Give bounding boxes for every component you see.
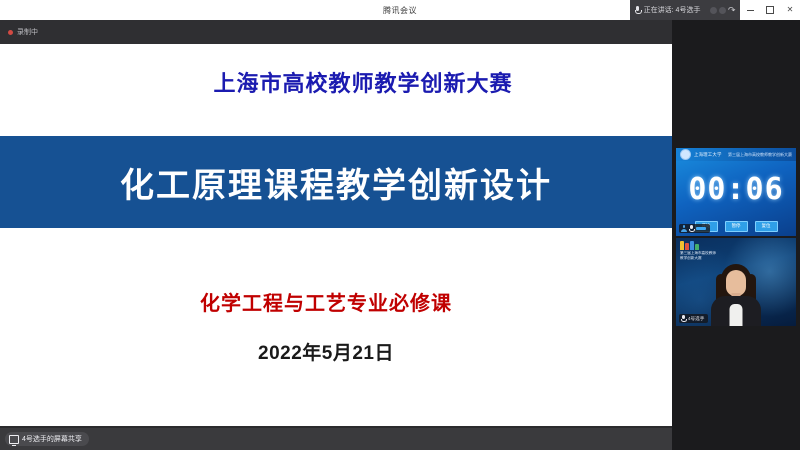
video-rail: 上海理工大学 第三届上海市高校教师教学创新大赛 00:06 开始 暂停 复位 [672,20,800,450]
meeting-bottom-bar: 4号选手的屏幕共享 [0,428,677,450]
timer-display-area: 00:06 [676,161,796,218]
restore-arrow-icon[interactable]: ↶ [728,6,736,15]
active-speaker-label: 正在讲话: 4号选手 [644,5,701,15]
microphone-icon-timer-tile [689,225,694,232]
slide-course-type: 化学工程与工艺专业必修课 [0,287,672,316]
slide-date: 2022年5月21日 [0,338,672,365]
screen-share-status: 4号选手的屏幕共享 [5,432,89,446]
titlebar-extra-icons[interactable]: ↶ [706,0,740,20]
timer-org-name: 上海理工大学 [694,152,722,158]
slide-title-band: 化工原理课程教学创新设计 [0,136,672,228]
timer-reset-button[interactable]: 复位 [755,221,778,232]
participant-name-label: 4号选手 [688,316,704,322]
microphone-icon [635,6,641,15]
timer-time-display: 00:06 [688,175,783,205]
titlebar-right-group: 正在讲话: 4号选手 ↶ ✕ [630,0,800,20]
slide-competition-heading: 上海市高校教师教学创新大赛 [0,66,672,98]
meeting-top-strip: 录制中 [0,20,680,44]
event-logo: 第三届上海市高校教师 教学创新大赛 [680,241,708,261]
audio-wave-icon-2 [719,7,726,14]
audio-wave-icon [710,7,717,14]
name-placeholder-bar [696,227,706,230]
tencent-meeting-window: 腾讯会议 正在讲话: 4号选手 ↶ ✕ 录制中 上海市高校教师教 [0,0,800,450]
university-logo-icon [680,149,691,160]
minimize-button[interactable] [740,0,760,20]
microphone-icon-participant-tile [681,315,686,322]
window-controls: ✕ [740,0,800,20]
active-speaker-indicator: 正在讲话: 4号选手 [630,0,707,20]
timer-header: 上海理工大学 第三届上海市高校教师教学创新大赛 [676,148,796,161]
event-logo-caption-2: 教学创新大赛 [680,256,708,260]
logo-bars-icon [680,241,708,250]
close-button[interactable]: ✕ [780,0,800,20]
participant-video-figure [705,260,767,326]
maximize-button[interactable] [760,0,780,20]
video-tile-timer[interactable]: 上海理工大学 第三届上海市高校教师教学创新大赛 00:06 开始 暂停 复位 [676,148,796,236]
screen-share-label: 4号选手的屏幕共享 [22,434,82,444]
window-titlebar: 腾讯会议 正在讲话: 4号选手 ↶ ✕ [0,0,800,20]
recording-dot-icon [8,30,13,35]
timer-pause-button[interactable]: 暂停 [725,221,748,232]
slide-main-title: 化工原理课程教学创新设计 [120,158,552,207]
shared-slide: 上海市高校教师教学创新大赛 化工原理课程教学创新设计 化学工程与工艺专业必修课 … [0,44,672,426]
video-tile-participant[interactable]: 第三届上海市高校教师 教学创新大赛 4号选手 [676,238,796,326]
timer-tile-name-chip [679,224,710,233]
participant-icon [681,225,687,232]
recording-indicator: 录制中 [8,27,38,37]
recording-label: 录制中 [17,27,38,37]
timer-screen: 上海理工大学 第三届上海市高校教师教学创新大赛 00:06 开始 暂停 复位 [676,148,796,236]
monitor-icon [9,435,19,444]
event-logo-caption-1: 第三届上海市高校教师 [680,251,708,255]
figure-shirt [730,304,743,326]
participant-name-chip: 4号选手 [679,314,708,323]
timer-event-name: 第三届上海市高校教师教学创新大赛 [728,152,792,158]
